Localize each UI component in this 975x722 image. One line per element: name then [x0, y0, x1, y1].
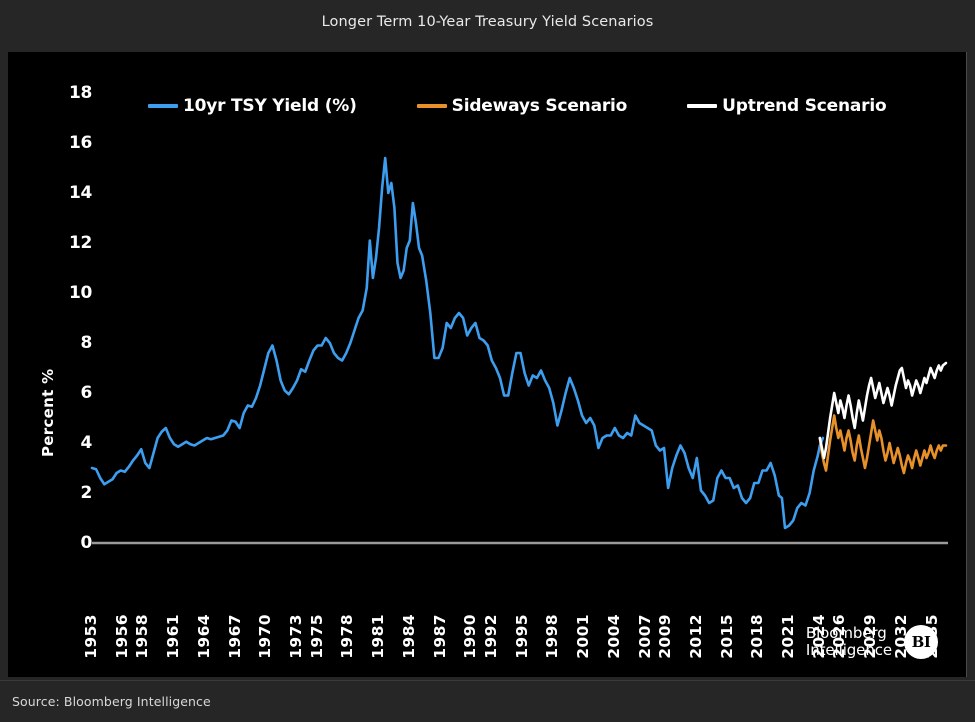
legend-swatch-icon — [417, 104, 447, 109]
page-title: Longer Term 10-Year Treasury Yield Scena… — [322, 14, 654, 30]
x-tick-label: 1992 — [484, 614, 500, 659]
x-tick-label: 1978 — [340, 614, 356, 659]
x-tick-label: 1990 — [463, 614, 479, 659]
x-tick-label: 1995 — [515, 614, 531, 659]
y-axis-label: Percent % — [39, 369, 57, 457]
legend-item[interactable]: 10yr TSY Yield (%) — [148, 96, 357, 116]
source-text: Source: Bloomberg Intelligence — [12, 694, 211, 709]
chart-legend: 10yr TSY Yield (%)Sideways ScenarioUptre… — [148, 96, 886, 116]
x-tick-label: 1998 — [545, 614, 561, 659]
x-axis-ticks: 1953195619581961196419671970197319751978… — [8, 52, 967, 677]
x-tick-label: 1987 — [433, 614, 449, 659]
x-tick-label: 2004 — [607, 614, 623, 659]
brand-line-1: Bloomberg — [806, 625, 892, 642]
title-bar: Longer Term 10-Year Treasury Yield Scena… — [0, 0, 975, 44]
bi-badge-icon: BI — [904, 625, 938, 659]
bloomberg-intelligence-logo: Bloomberg Intelligence BI — [806, 625, 938, 660]
x-tick-label: 1981 — [371, 614, 387, 659]
x-tick-label: 1975 — [310, 614, 326, 659]
footer-bar: Source: Bloomberg Intelligence — [0, 680, 975, 722]
legend-item[interactable]: Sideways Scenario — [417, 96, 627, 116]
legend-item[interactable]: Uptrend Scenario — [687, 96, 886, 116]
x-tick-label: 2018 — [750, 614, 766, 659]
chart-panel: 024681012141618 195319561958196119641967… — [8, 52, 967, 677]
x-tick-label: 2001 — [576, 614, 592, 659]
x-tick-label: 2015 — [720, 614, 736, 659]
x-tick-label: 1958 — [135, 614, 151, 659]
x-tick-label: 1964 — [197, 614, 213, 659]
legend-swatch-icon — [687, 104, 717, 109]
legend-label: Sideways Scenario — [452, 96, 627, 116]
x-tick-label: 2012 — [689, 614, 705, 659]
y-axis-label-wrap: Percent % — [44, 242, 68, 442]
x-tick-label: 1973 — [289, 614, 305, 659]
brand-line-2: Intelligence — [806, 642, 892, 659]
x-tick-label: 2021 — [781, 614, 797, 659]
brand-text: Bloomberg Intelligence — [806, 625, 892, 660]
legend-swatch-icon — [148, 104, 178, 109]
x-tick-label: 2007 — [638, 614, 654, 659]
x-tick-label: 1961 — [166, 614, 182, 659]
x-tick-label: 1956 — [115, 614, 131, 659]
x-tick-label: 1953 — [84, 614, 100, 659]
chart-screenshot: Longer Term 10-Year Treasury Yield Scena… — [0, 0, 975, 722]
x-tick-label: 1984 — [402, 614, 418, 659]
x-tick-label: 2009 — [658, 614, 674, 659]
x-tick-label: 1967 — [228, 614, 244, 659]
legend-label: Uptrend Scenario — [722, 96, 886, 116]
x-tick-label: 1970 — [258, 614, 274, 659]
legend-label: 10yr TSY Yield (%) — [183, 96, 357, 116]
